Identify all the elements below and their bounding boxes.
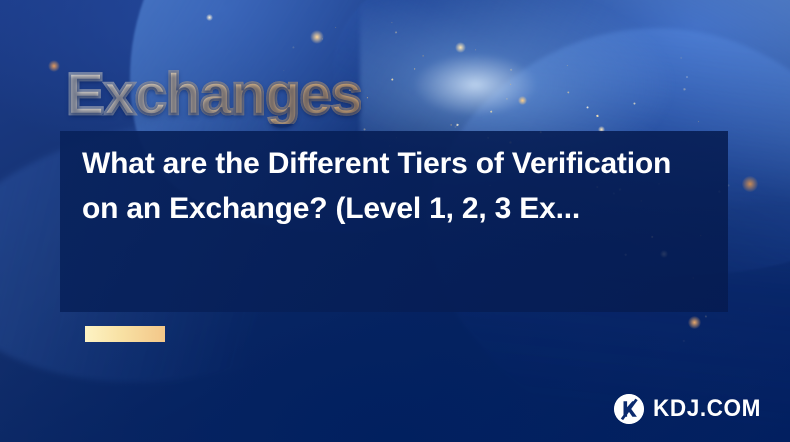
brand-logo-text: KDJ.COM [653, 395, 761, 423]
bokeh-dot [48, 60, 60, 72]
bokeh-dot [310, 30, 324, 44]
article-hero-banner: Exchanges What are the Different Tiers o… [0, 0, 790, 442]
bokeh-dot [206, 14, 213, 21]
article-headline: What are the Different Tiers of Verifica… [82, 141, 682, 231]
bokeh-dot [455, 42, 466, 53]
brand-logo[interactable]: KDJ.COM [614, 394, 768, 424]
category-title: Exchanges [66, 66, 361, 124]
kdj-k-monogram-icon [614, 394, 644, 424]
gold-accent-bar [85, 326, 165, 342]
bokeh-dot [688, 316, 701, 329]
bokeh-dot [742, 176, 758, 192]
bokeh-dot [518, 96, 527, 105]
